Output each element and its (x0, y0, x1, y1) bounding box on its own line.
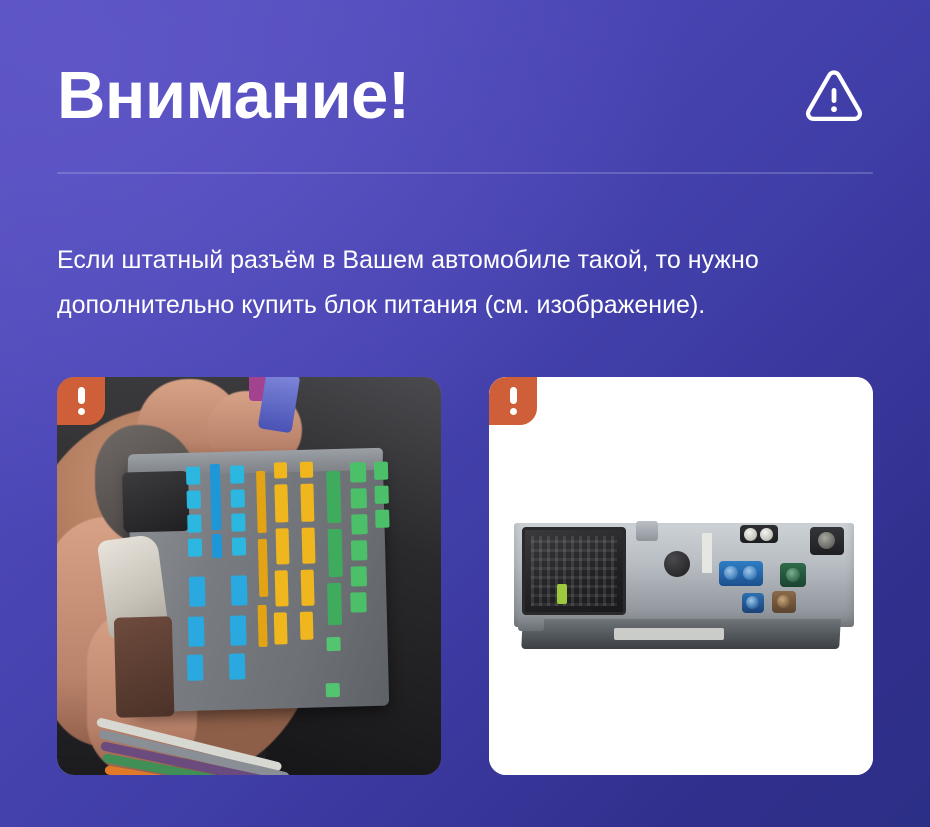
warning-triangle-icon (801, 63, 867, 129)
warning-description: Если штатный разъём в Вашем автомобиле т… (57, 238, 873, 328)
exclamation-icon (510, 387, 517, 415)
exclamation-icon (78, 387, 85, 415)
header-divider (57, 172, 873, 174)
page-title: Внимание! (57, 62, 410, 129)
warning-page: Внимание! Если штатный разъём в Вашем ав… (0, 0, 930, 827)
wire-harness (97, 675, 347, 775)
warning-description-line-1: Если штатный разъём в Вашем автомобиле т… (57, 238, 873, 283)
power-supply-module-image (489, 377, 873, 775)
page-header: Внимание! (57, 48, 873, 143)
warning-badge (489, 377, 537, 425)
car-connector-image (57, 377, 441, 775)
image-gallery (57, 377, 873, 775)
warning-badge (57, 377, 105, 425)
car-connector-card[interactable] (57, 377, 441, 775)
warning-description-line-2: дополнительно купить блок питания (см. и… (57, 283, 873, 328)
power-supply-module-card[interactable] (489, 377, 873, 775)
